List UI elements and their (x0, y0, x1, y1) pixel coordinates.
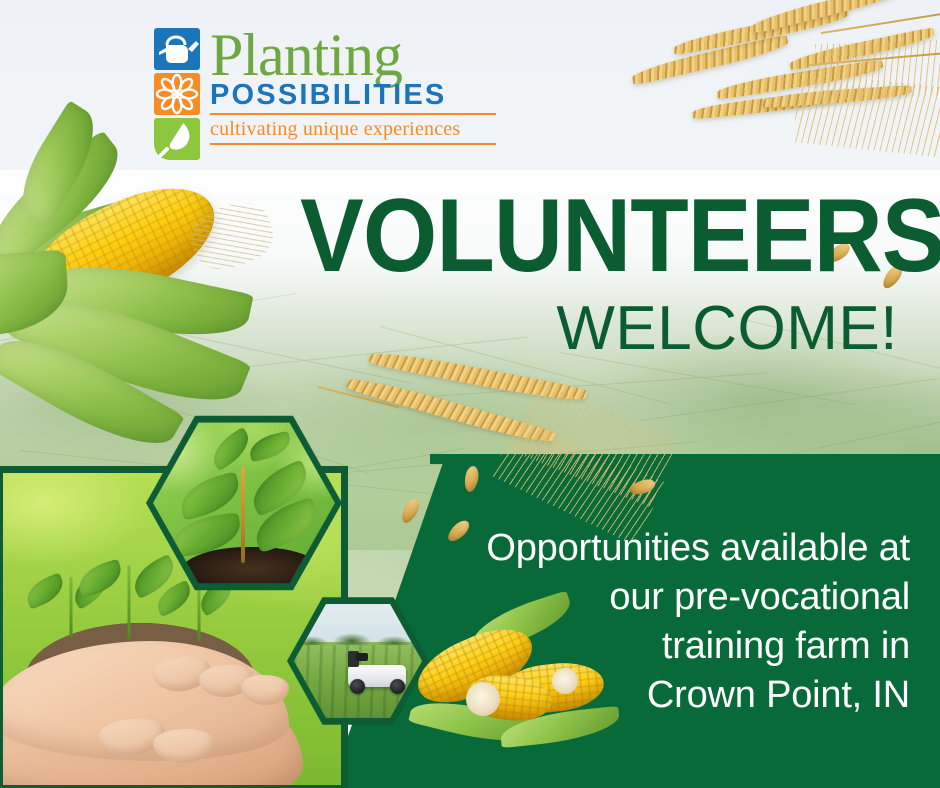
body-copy-line: training farm in (440, 622, 910, 671)
logo-wordmark: Planting POSSIBILITIES cultivating uniqu… (210, 24, 506, 164)
trowel-icon (154, 118, 200, 160)
farm-robot-camera (356, 653, 368, 661)
headline-secondary: WELCOME! (0, 296, 898, 362)
logo-name-primary: Planting (210, 24, 506, 86)
seedling-right (179, 583, 219, 641)
logo-icon-tiles (154, 28, 200, 160)
body-copy: Opportunities available at our pre-vocat… (440, 524, 910, 720)
wheat-diagonal-image (330, 360, 670, 550)
brand-logo[interactable]: Planting POSSIBILITIES cultivating uniqu… (154, 28, 506, 160)
farm-robot-wheel (390, 679, 405, 694)
hex-seedling-stem (241, 467, 245, 563)
poster-canvas: Planting POSSIBILITIES cultivating uniqu… (0, 0, 940, 788)
headline-primary: VOLUNTEERS (300, 186, 852, 286)
body-copy-line: our pre-vocational (440, 573, 910, 622)
body-copy-line: Opportunities available at (440, 524, 910, 573)
farm-robot-wheel (350, 679, 365, 694)
body-copy-line: Crown Point, IN (440, 671, 910, 720)
logo-divider-bottom (210, 143, 496, 145)
flower-icon (154, 73, 200, 115)
wheat-bundle-image (620, 0, 940, 164)
seedling-center (107, 565, 151, 639)
logo-name-secondary: POSSIBILITIES (210, 80, 506, 110)
logo-tagline: cultivating unique experiences (210, 117, 506, 141)
logo-divider-top (210, 113, 496, 115)
watering-can-icon (154, 28, 200, 70)
